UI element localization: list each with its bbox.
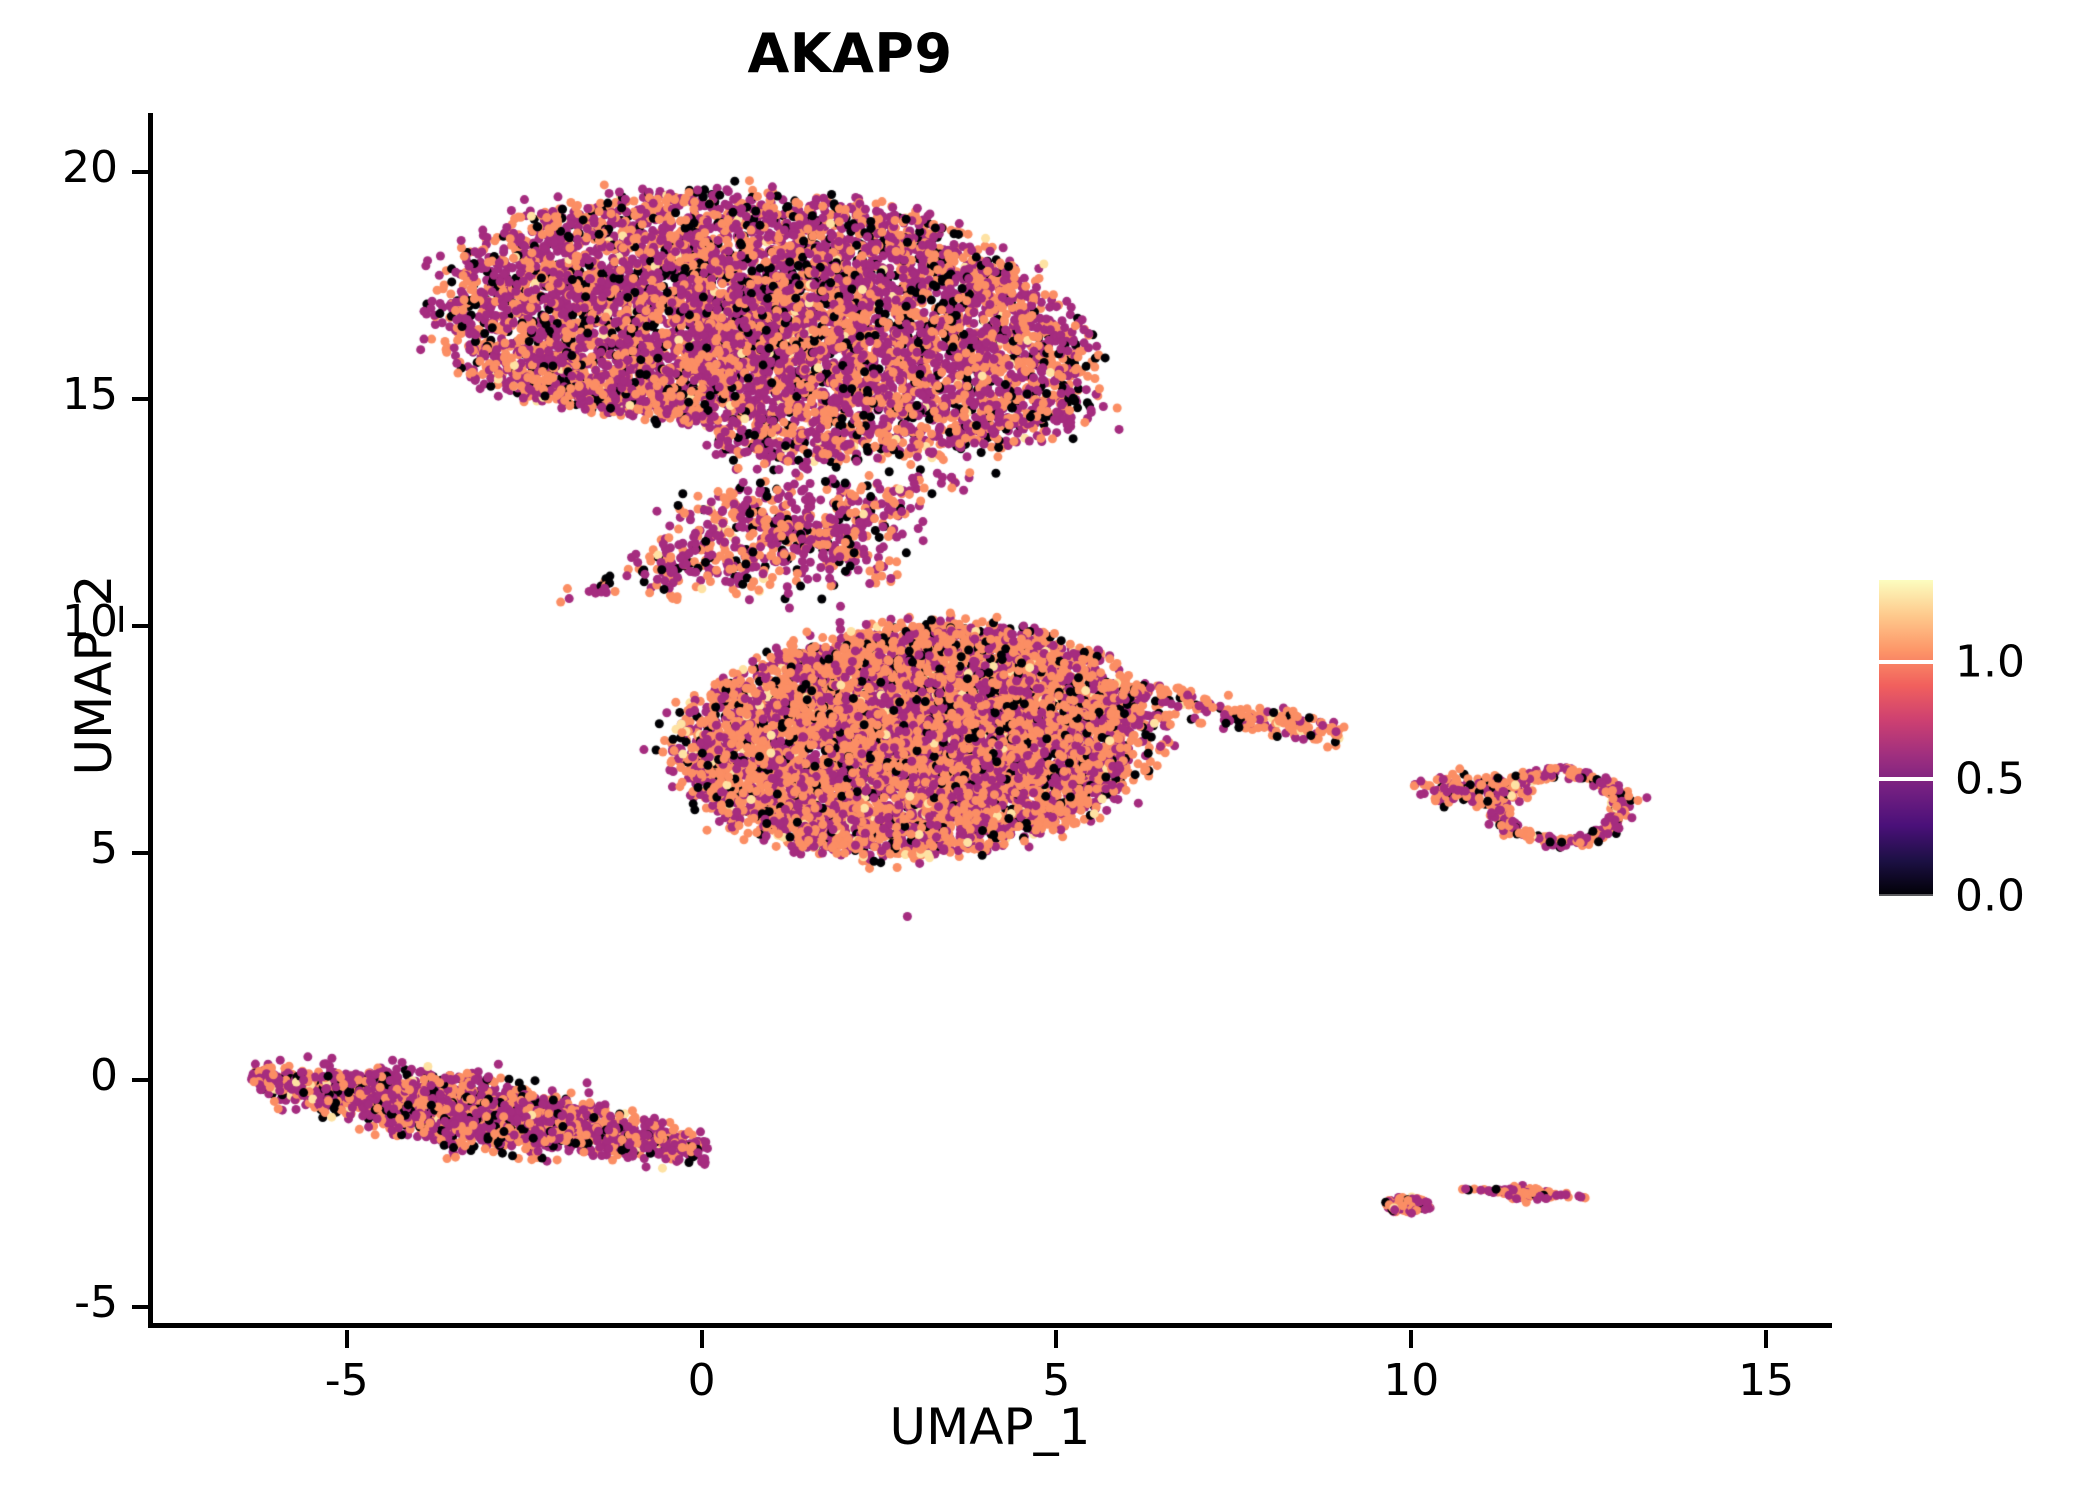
figure-root: AKAP9 -505101520 -5051015 UMAP_1 UMAP_2 …	[0, 0, 2100, 1500]
colorbar-tick-label: 0.0	[1955, 871, 2025, 922]
x-tick-mark	[700, 1330, 704, 1348]
y-tick-label: 0	[8, 1050, 118, 1101]
y-axis-label: UMAP_2	[65, 355, 123, 995]
colorbar-tick-label: 0.5	[1955, 753, 2025, 804]
y-tick-mark	[132, 1078, 150, 1082]
scatter-points-canvas	[148, 113, 1830, 1325]
colorbar-tick-mark	[1879, 777, 1933, 781]
y-tick-label: -5	[8, 1277, 118, 1328]
colorbar-tick-mark	[1879, 660, 1933, 664]
scatter-plot-area	[148, 113, 1830, 1325]
x-tick-mark	[345, 1330, 349, 1348]
y-tick-mark	[132, 170, 150, 174]
y-tick-mark	[132, 397, 150, 401]
colorbar-tick-label: 1.0	[1955, 636, 2025, 687]
y-tick-mark	[132, 851, 150, 855]
y-tick-mark	[132, 624, 150, 628]
x-tick-mark	[1409, 1330, 1413, 1348]
x-tick-mark	[1054, 1330, 1058, 1348]
x-tick-mark	[1764, 1330, 1768, 1348]
page-title: AKAP9	[0, 22, 1700, 85]
colorbar	[1879, 580, 1933, 896]
y-tick-mark	[132, 1305, 150, 1309]
x-axis-label: UMAP_1	[148, 1398, 1832, 1456]
y-tick-label: 20	[8, 142, 118, 193]
colorbar-gradient	[1879, 580, 1933, 896]
colorbar-tick-mark	[1879, 894, 1933, 898]
